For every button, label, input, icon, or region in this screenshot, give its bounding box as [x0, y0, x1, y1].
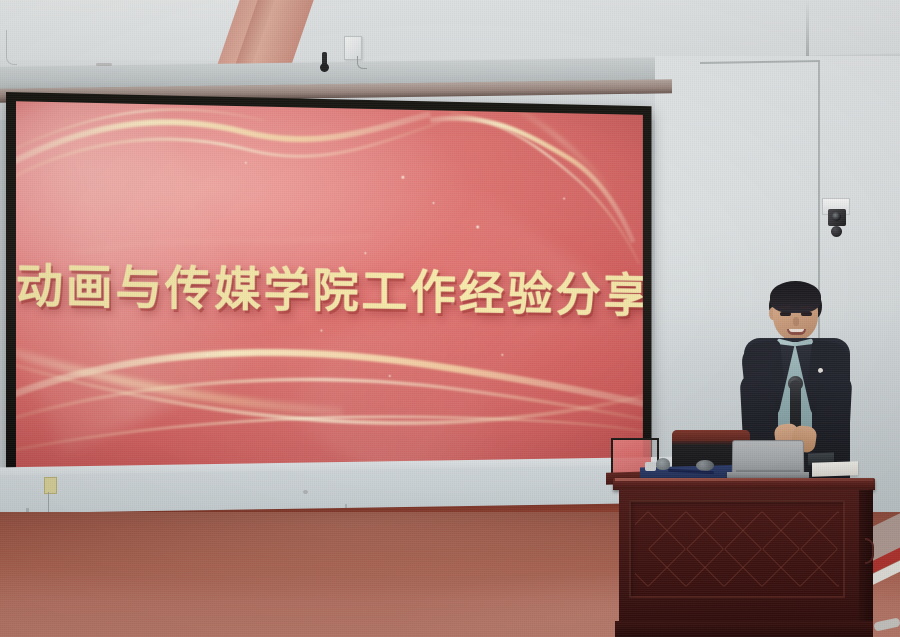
wall-blemish	[303, 490, 308, 494]
paper-stack	[812, 461, 858, 477]
projected-slide: 动画与传媒学院工作经验分享	[16, 101, 643, 480]
projection-screen: 动画与传媒学院工作经验分享	[6, 92, 652, 490]
eye-right	[801, 312, 812, 316]
nose	[793, 317, 799, 326]
podium	[613, 478, 875, 637]
wall-scuff-mark	[96, 63, 112, 66]
slide-vignette	[16, 101, 643, 480]
wall-wire	[6, 30, 17, 65]
wall-nail	[48, 492, 49, 512]
wall-sticker-icon	[44, 477, 57, 494]
podium-base	[615, 621, 873, 637]
desk-small-object	[645, 462, 656, 471]
camera-lens	[832, 212, 841, 221]
presentation-photo-scene: 动画与传媒学院工作经验分享	[0, 0, 900, 637]
podium-top-highlight	[615, 478, 873, 481]
mouth	[787, 329, 806, 335]
eye-left	[780, 312, 791, 316]
ceiling-fixture-icon	[322, 52, 327, 66]
camera-knob	[831, 226, 842, 237]
podium-lattice-pattern	[635, 506, 839, 592]
glasses-icon	[696, 460, 714, 471]
wall-camera-icon	[822, 198, 848, 242]
electrical-box-wire	[357, 56, 367, 69]
hair	[770, 281, 821, 313]
